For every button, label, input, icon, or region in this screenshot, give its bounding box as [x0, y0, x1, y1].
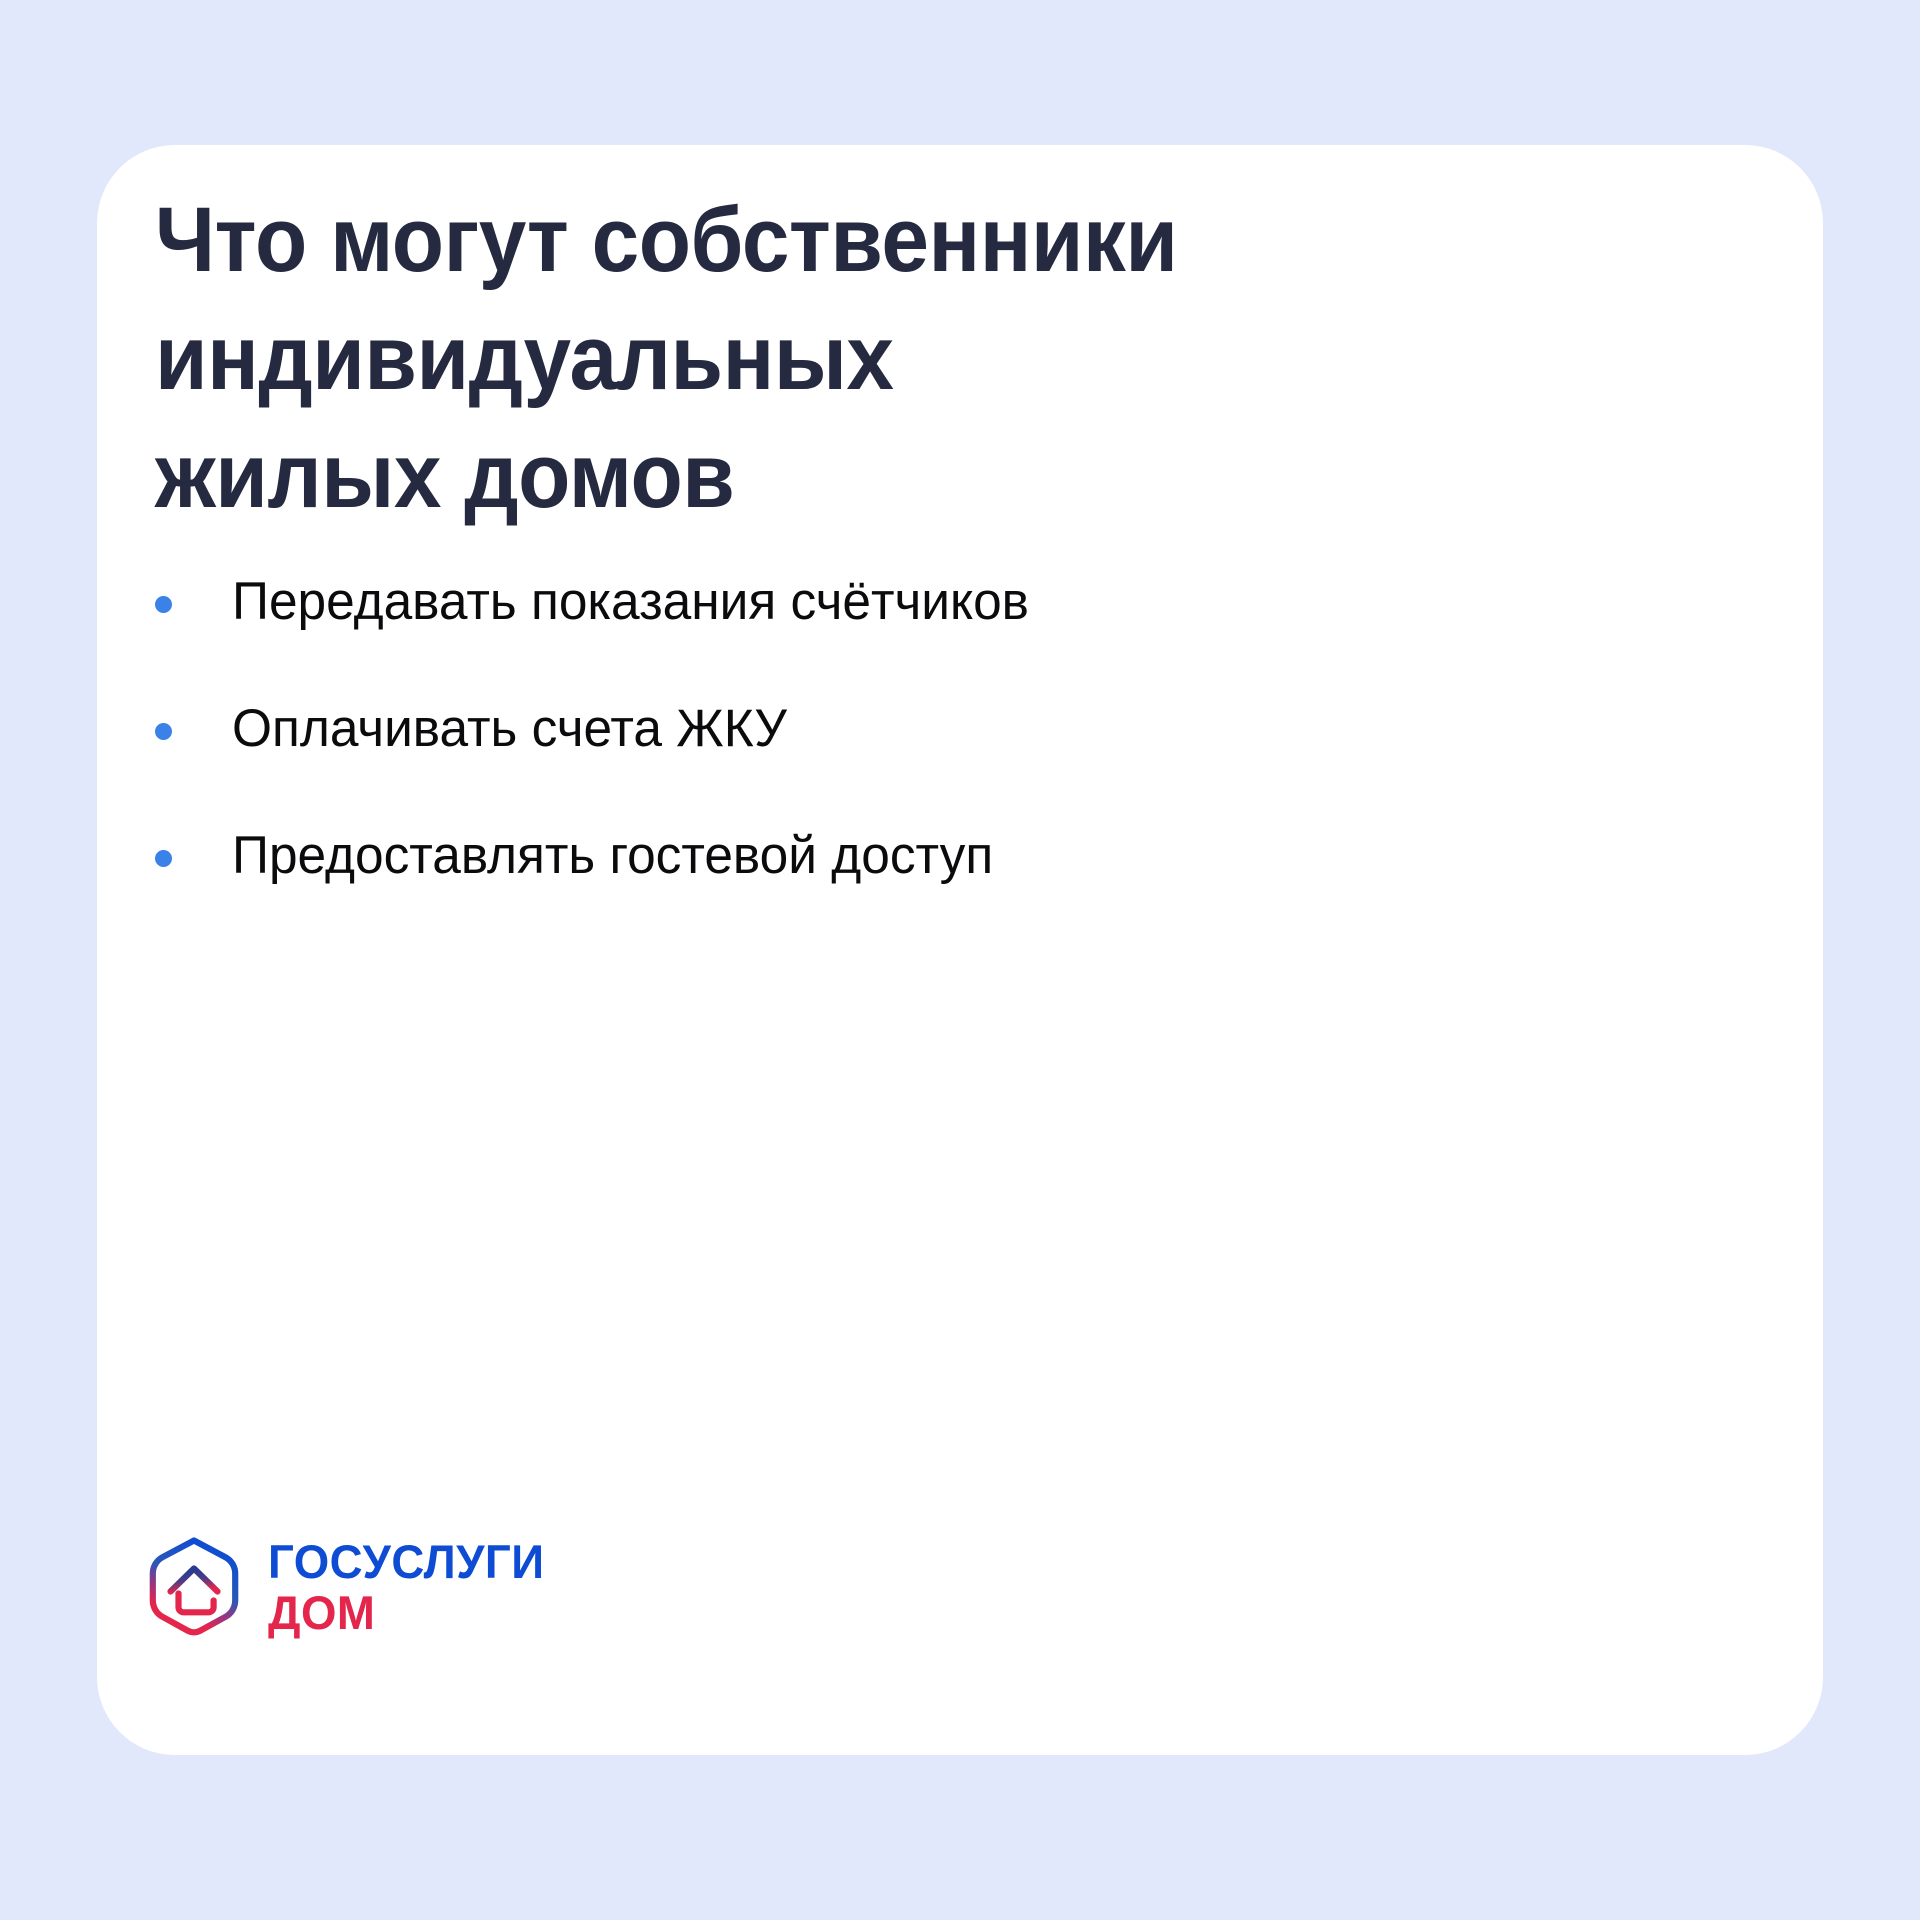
page-title: Что могут собственники индивидуальных жи… — [155, 181, 1476, 535]
page-title-line-1: Что могут собственники — [155, 181, 1476, 299]
brand-logo: ГОСУСЛУГИ ДОМ — [142, 1535, 553, 1639]
page-root: Что могут собственники индивидуальных жи… — [0, 0, 1920, 1920]
feature-list: Передавать показания счётчиков Оплачиват… — [155, 569, 1655, 950]
list-item-label: Оплачивать счета ЖКУ — [232, 696, 1612, 762]
page-title-line-2: индивидуальных — [155, 299, 1476, 417]
house-in-hexagon-icon — [142, 1535, 246, 1639]
bullet-dot-icon — [155, 850, 172, 867]
brand-logo-wordmark: ГОСУСЛУГИ ДОМ — [268, 1536, 553, 1638]
bullet-dot-icon — [155, 723, 172, 740]
list-item: Передавать показания счётчиков — [155, 569, 1655, 696]
brand-name-primary: ГОСУСЛУГИ — [268, 1536, 545, 1587]
list-item-label: Передавать показания счётчиков — [232, 569, 1612, 635]
brand-name-secondary: ДОМ — [268, 1587, 545, 1638]
bullet-dot-icon — [155, 596, 172, 613]
info-card: Что могут собственники индивидуальных жи… — [97, 145, 1823, 1755]
list-item: Оплачивать счета ЖКУ — [155, 696, 1655, 823]
list-item-label: Предоставлять гостевой доступ — [232, 823, 1612, 889]
page-title-line-3: жилых домов — [155, 417, 1476, 535]
list-item: Предоставлять гостевой доступ — [155, 823, 1655, 950]
